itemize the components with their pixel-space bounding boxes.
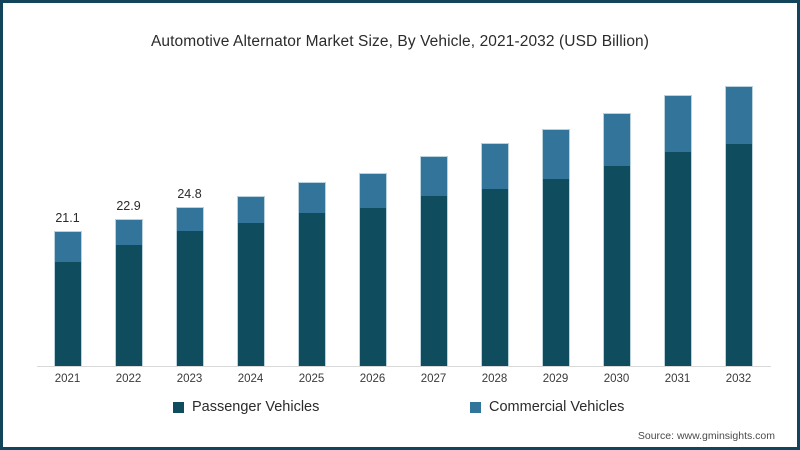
bar-group-2029[interactable] [542,129,570,366]
bar-segment-commercial-2025[interactable] [298,182,326,213]
bar-segment-passenger-2026[interactable] [359,208,387,366]
bar-segment-passenger-2028[interactable] [481,189,509,366]
x-axis-line [37,366,771,367]
bar-segment-commercial-2032[interactable] [725,86,753,144]
bar-segment-passenger-2022[interactable] [115,245,143,366]
bar-group-2031[interactable] [664,95,692,366]
bar-segment-commercial-2024[interactable] [237,196,265,224]
bar-segment-passenger-2027[interactable] [420,196,448,366]
bar-group-2025[interactable] [298,182,326,366]
bar-group-2028[interactable] [481,143,509,366]
x-axis-tick-2025: 2025 [277,373,347,385]
x-axis-tick-2027: 2027 [399,373,469,385]
x-axis-tick-2024: 2024 [216,373,286,385]
bar-segment-commercial-2028[interactable] [481,143,509,189]
legend-item-commercial-vehicles[interactable]: Commercial Vehicles [470,399,624,415]
bar-group-2022[interactable]: 22.9 [115,219,143,366]
legend-label: Passenger Vehicles [192,399,319,415]
bar-value-label-2021: 21.1 [33,211,103,225]
x-axis-tick-2022: 2022 [94,373,164,385]
chart-canvas: Automotive Alternator Market Size, By Ve… [3,3,797,447]
bar-group-2032[interactable] [725,86,753,366]
bar-segment-passenger-2023[interactable] [176,231,204,366]
bar-segment-commercial-2026[interactable] [359,173,387,208]
bar-group-2021[interactable]: 21.1 [54,231,82,366]
bar-segment-passenger-2021[interactable] [54,262,82,366]
bar-segment-passenger-2025[interactable] [298,213,326,366]
bar-segment-commercial-2029[interactable] [542,129,570,179]
bar-segment-commercial-2027[interactable] [420,156,448,196]
x-axis-tick-2026: 2026 [338,373,408,385]
legend-label: Commercial Vehicles [489,399,624,415]
bar-group-2023[interactable]: 24.8 [176,207,204,366]
x-axis-tick-2028: 2028 [460,373,530,385]
source-attribution: Source: www.gminsights.com [638,430,775,442]
bar-group-2030[interactable] [603,113,631,366]
bar-segment-passenger-2030[interactable] [603,166,631,366]
legend-swatch-icon [173,402,184,413]
bar-segment-passenger-2032[interactable] [725,144,753,366]
bar-value-label-2023: 24.8 [155,187,225,201]
legend-swatch-icon [470,402,481,413]
x-axis-tick-2031: 2031 [643,373,713,385]
bar-segment-passenger-2031[interactable] [664,152,692,366]
bar-group-2027[interactable] [420,156,448,366]
x-axis-tick-2029: 2029 [521,373,591,385]
legend: Passenger Vehicles Commercial Vehicles [3,399,797,421]
x-axis-tick-2021: 2021 [33,373,103,385]
bar-group-2026[interactable] [359,173,387,366]
bar-group-2024[interactable] [237,196,265,366]
page-title: Automotive Alternator Market Size, By Ve… [3,33,797,51]
plot-area: 21.122.924.8 [37,78,769,366]
bar-segment-commercial-2021[interactable] [54,231,82,262]
x-axis-tick-2032: 2032 [704,373,774,385]
x-axis-tick-2030: 2030 [582,373,652,385]
bar-value-label-2022: 22.9 [94,199,164,213]
bar-segment-commercial-2030[interactable] [603,113,631,167]
bar-segment-commercial-2022[interactable] [115,219,143,245]
x-axis-tick-2023: 2023 [155,373,225,385]
legend-item-passenger-vehicles[interactable]: Passenger Vehicles [173,399,319,415]
bar-segment-passenger-2024[interactable] [237,223,265,366]
bar-segment-commercial-2023[interactable] [176,207,204,231]
chart-card: Automotive Alternator Market Size, By Ve… [0,0,800,450]
bar-segment-commercial-2031[interactable] [664,95,692,151]
bar-segment-passenger-2029[interactable] [542,179,570,366]
